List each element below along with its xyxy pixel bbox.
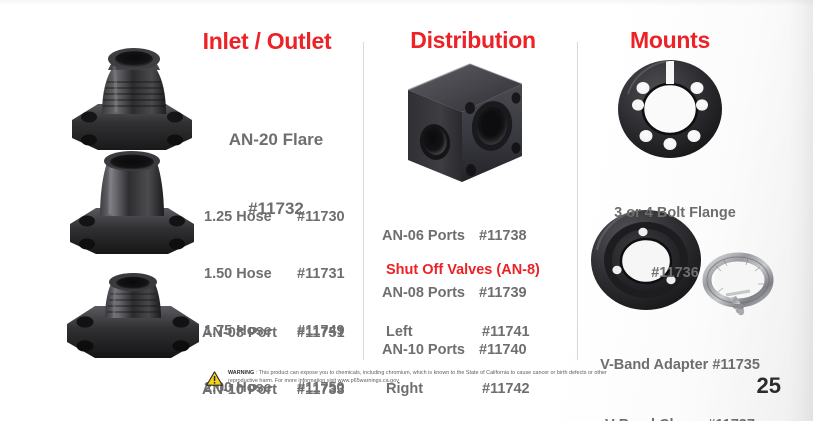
subheading-shut-off-valves: Shut Off Valves (AN-8) (386, 262, 540, 278)
spec-label: AN-08 Port (202, 324, 297, 343)
spec-list-an-port: AN-08 Port#11751 AN-10 Port#11733 AN-12 … (202, 286, 345, 421)
spec-label: AN-06 Ports (382, 227, 479, 246)
product-image-distribution-block (392, 60, 528, 188)
spec-number: #11741 (482, 323, 530, 342)
spec-number: #11738 (479, 227, 527, 246)
spec-list-bolt-flange: 3 or 4 Bolt Flange #11736 (590, 163, 760, 323)
product-image-an-20-flare-fitting (58, 42, 208, 152)
spec-list-v-band: V-Band Adapter #11735 V-Band Clamp #1173… (580, 315, 780, 421)
catalog-page: Inlet / Outlet Distribution Mounts (0, 0, 813, 421)
spec-label: Left (386, 323, 482, 342)
page-right-shadow (787, 0, 813, 421)
spec-label: 1.25 Hose (204, 208, 297, 227)
warning-triangle-icon (206, 371, 223, 391)
page-top-shadow (0, 0, 813, 6)
prop65-warning: WARNING : This product can expose you to… (206, 370, 636, 391)
spec-number: #11730 (297, 208, 345, 227)
column-heading-mounts: Mounts (610, 27, 730, 54)
column-divider-2 (577, 42, 578, 360)
spec-label: AN-20 Flare (229, 130, 323, 149)
spec-label: 1.50 Hose (204, 265, 297, 284)
warning-heading: WARNING (228, 370, 254, 376)
product-image-bolt-flange (616, 58, 724, 160)
spec-label: 3 or 4 Bolt Flange (614, 205, 736, 221)
column-divider-1 (363, 42, 364, 360)
spec-number: #11751 (297, 324, 345, 343)
page-number: 25 (757, 373, 781, 399)
product-image-hose-barb-fitting (58, 150, 208, 262)
spec-number: #11731 (297, 265, 345, 284)
spec-list-shut-off-valves: Left#11741 Right#11742 Left Nitro#11743 … (386, 285, 530, 421)
spec-number: #11736 (651, 265, 699, 281)
product-image-an-port-fitting (55, 272, 210, 368)
warning-line-1: This product can expose you to chemicals… (259, 370, 516, 376)
column-heading-distribution: Distribution (388, 27, 558, 54)
spec-label: V-Band Clamp #11737 (605, 417, 755, 421)
